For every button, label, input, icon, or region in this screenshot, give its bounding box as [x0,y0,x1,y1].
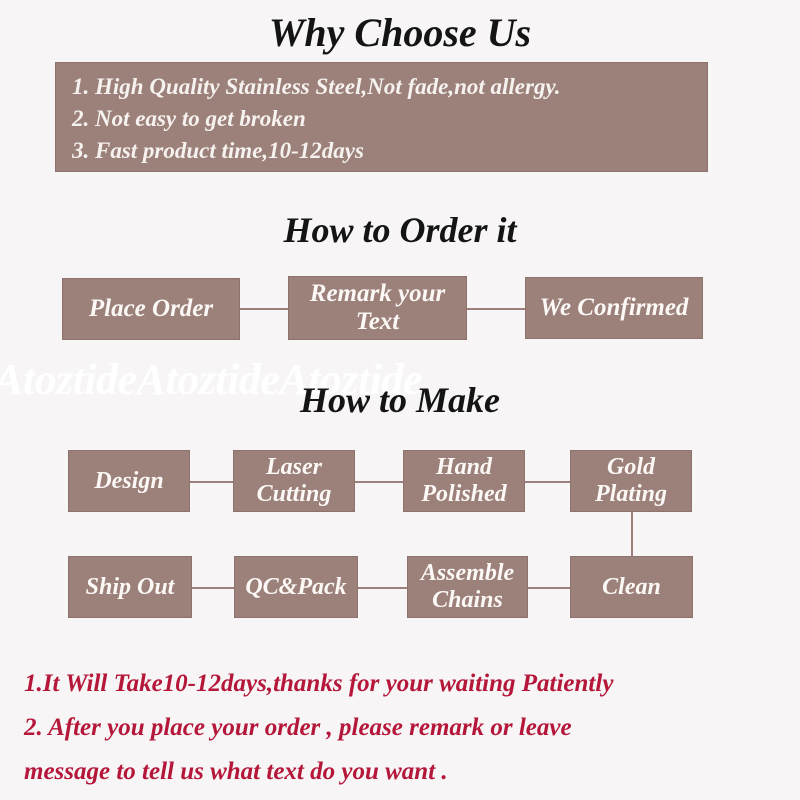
how-to-order-heading: How to Order it [0,208,800,252]
how-to-make-heading: How to Make [0,378,800,422]
connector-clean-to-assemble-chains [527,587,572,589]
make-step-clean: Clean [570,556,693,618]
make-step-clean-label: Clean [598,574,665,601]
make-step-design: Design [68,450,190,512]
connector-qc-pack-to-ship-out [191,587,236,589]
make-step-gold-plating-label: Gold Plating [571,454,691,508]
make-step-design-label: Design [90,468,167,495]
order-step-we-confirmed: We Confirmed [525,277,703,339]
note-line-1: 1.It Will Take10-12days,thanks for your … [24,662,780,706]
make-step-hand-polished: Hand Polished [403,450,525,512]
note-line-3: message to tell us what text do you want… [24,750,780,794]
order-step-remark-your-text: Remark your Text [288,276,467,340]
connector-hand-polished-to-gold-plating [524,481,572,483]
make-step-laser-cutting: Laser Cutting [233,450,355,512]
why-choose-us-heading: Why Choose Us [0,10,800,56]
connector-assemble-chains-to-qc-pack [357,587,409,589]
feature-item-2: 2. Not easy to get broken [72,103,707,135]
infographic-page: AtoztideAtoztideAtoztide Why Choose Us 1… [0,0,800,800]
connector-design-to-laser-cutting [189,481,235,483]
make-step-assemble-chains: Assemble Chains [407,556,528,618]
connector-remark-to-confirmed [466,308,527,310]
connector-place-order-to-remark [239,308,290,310]
make-step-qc-pack-label: QC&Pack [241,574,350,601]
feature-item-1: 1. High Quality Stainless Steel,Not fade… [72,71,707,103]
connector-laser-cutting-to-hand-polished [354,481,405,483]
feature-item-3: 3. Fast product time,10-12days [72,135,707,167]
bottom-notes: 1.It Will Take10-12days,thanks for your … [24,662,780,794]
make-step-ship-out-label: Ship Out [82,574,179,601]
order-step-remark-your-text-label: Remark your Text [289,280,466,336]
make-step-laser-cutting-label: Laser Cutting [234,454,354,508]
order-step-we-confirmed-label: We Confirmed [536,294,693,322]
why-choose-us-panel: 1. High Quality Stainless Steel,Not fade… [55,62,708,172]
order-step-place-order-label: Place Order [85,295,217,323]
make-step-gold-plating: Gold Plating [570,450,692,512]
make-step-hand-polished-label: Hand Polished [404,454,524,508]
order-step-place-order: Place Order [62,278,240,340]
make-step-qc-pack: QC&Pack [234,556,358,618]
note-line-2: 2. After you place your order , please r… [24,706,780,750]
make-step-ship-out: Ship Out [68,556,192,618]
connector-gold-plating-to-clean [631,511,633,557]
make-step-assemble-chains-label: Assemble Chains [408,560,527,614]
